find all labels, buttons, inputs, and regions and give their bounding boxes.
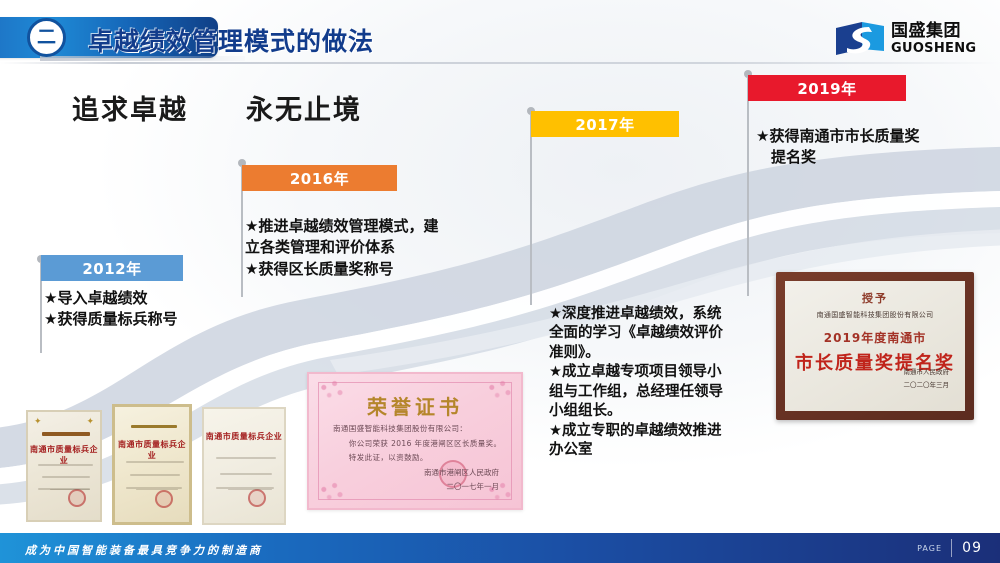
footer-slogan: 成为中国智能装备最具竞争力的制造商 bbox=[25, 542, 263, 558]
node-line-2019 bbox=[747, 78, 749, 296]
logo-chinese-name: 国盛集团 bbox=[891, 23, 976, 40]
company-logo: 国盛集团 GUOSHENG bbox=[836, 22, 976, 55]
plaque-face: 授予 南通国盛智能科技集团股份有限公司 2019年度南通市 市长质量奖提名奖 南… bbox=[785, 281, 965, 411]
cert-body-line bbox=[130, 474, 180, 476]
cert-sign-line bbox=[228, 489, 272, 490]
plaque-org-name: 南通市人民政府 bbox=[904, 366, 950, 378]
footer-page-number: 09 bbox=[962, 540, 982, 556]
section-number-badge: 二 bbox=[27, 18, 66, 57]
honor-certificate-image: 荣誉证书 南通国盛智能科技集团股份有限公司： 你公司荣获 2016 年度港闸区区… bbox=[307, 372, 523, 510]
honor-certificate-signature: 南通市港闸区人民政府 二〇一七年一月 bbox=[424, 466, 499, 494]
cert-banner bbox=[131, 425, 177, 428]
certificate-image-2: 南通市质量标兵企业 bbox=[112, 404, 192, 525]
year-body-2016: ★推进卓越绩效管理模式，建 立各类管理和评价体系 ★获得区长质量奖称号 bbox=[245, 216, 510, 280]
honor-certificate-body: 南通国盛智能科技集团股份有限公司： 你公司荣获 2016 年度港闸区区长质量奖。… bbox=[333, 422, 503, 466]
footer-bar: 成为中国智能装备最具竞争力的制造商 PAGE 09 bbox=[0, 533, 1000, 563]
logo-english-name: GUOSHENG bbox=[891, 42, 976, 55]
node-line-2017 bbox=[530, 115, 532, 305]
honor-date: 二〇一七年一月 bbox=[424, 480, 499, 494]
floral-ornament-icon bbox=[313, 479, 349, 505]
section-number-text: 二 bbox=[37, 28, 56, 47]
cert-seal-icon bbox=[248, 489, 266, 507]
cert-body-line bbox=[38, 464, 93, 466]
cert-body-line bbox=[126, 461, 184, 463]
award-plaque-image: 授予 南通国盛智能科技集团股份有限公司 2019年度南通市 市长质量奖提名奖 南… bbox=[776, 272, 974, 420]
certificate-image-1: ✦ ✦ 南通市质量标兵企业 bbox=[26, 410, 102, 522]
year-body-2012: ★导入卓越绩效 ★获得质量标兵称号 bbox=[44, 288, 294, 331]
logo-wordmark: 国盛集团 GUOSHENG bbox=[891, 23, 976, 55]
cert-sign-line bbox=[136, 489, 178, 490]
cert-title-3: 南通市质量标兵企业 bbox=[204, 431, 284, 442]
slide-canvas: 二 卓越绩效管理模式的做法 国盛集团 GUOSHENG 追求卓越 永无止境 20… bbox=[0, 0, 1000, 563]
plaque-signature: 南通市人民政府 二〇二〇年三月 bbox=[904, 366, 950, 391]
cert-ornament-icon: ✦ bbox=[34, 417, 42, 427]
header-divider bbox=[0, 62, 1000, 64]
cert-banner bbox=[42, 432, 90, 436]
certificate-image-3: 南通市质量标兵企业 bbox=[202, 407, 286, 525]
cert-title-2: 南通市质量标兵企业 bbox=[115, 439, 189, 461]
year-label-2012: 2012年 bbox=[41, 255, 183, 281]
year-label-2017: 2017年 bbox=[531, 111, 679, 137]
cert-body-line bbox=[220, 473, 272, 475]
cert-body-line bbox=[216, 457, 276, 459]
year-label-2016: 2016年 bbox=[242, 165, 397, 191]
guosheng-logo-icon bbox=[836, 22, 884, 55]
year-body-2019: ★获得南通市市长质量奖 提名奖 bbox=[756, 126, 991, 169]
cert-title-1: 南通市质量标兵企业 bbox=[28, 444, 100, 466]
honor-org: 南通市港闸区人民政府 bbox=[424, 466, 499, 480]
honor-certificate-title: 荣誉证书 bbox=[309, 391, 521, 420]
year-body-2017: ★深度推进卓越绩效，系统 全面的学习《卓越绩效评价 准则》。 ★成立卓越专项项目… bbox=[549, 305, 764, 460]
cert-sign-line bbox=[50, 489, 90, 490]
footer-page-label: PAGE bbox=[917, 544, 942, 553]
year-label-2019: 2019年 bbox=[748, 75, 906, 101]
plaque-give-label: 授予 bbox=[785, 290, 965, 306]
plaque-date: 二〇二〇年三月 bbox=[904, 379, 950, 391]
cert-seal-icon bbox=[155, 490, 173, 508]
cert-seal-icon bbox=[68, 489, 86, 507]
plaque-company-name: 南通国盛智能科技集团股份有限公司 bbox=[785, 310, 965, 320]
page-title: 卓越绩效管理模式的做法 bbox=[88, 22, 374, 58]
main-heading: 追求卓越 永无止境 bbox=[72, 88, 362, 127]
cert-ornament-icon: ✦ bbox=[86, 417, 94, 427]
plaque-year-line: 2019年度南通市 bbox=[785, 329, 965, 346]
cert-body-line bbox=[42, 476, 90, 478]
footer-page-separator bbox=[951, 539, 952, 557]
